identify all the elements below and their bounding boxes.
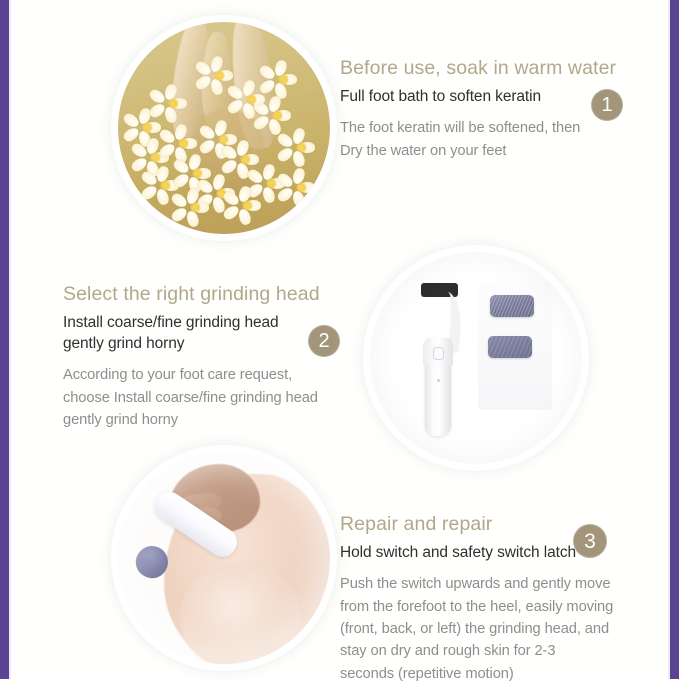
step-3-photo <box>118 452 330 664</box>
left-purple-rail <box>0 0 11 679</box>
step-3-body-line: Push the switch upwards and gently move <box>340 573 635 595</box>
step-2-image-device <box>370 252 582 464</box>
step-2-subheading-line: gently grind horny <box>63 334 328 355</box>
flower-icon <box>178 190 212 224</box>
step-2-body-line: gently grind horny <box>63 409 328 431</box>
step-3-body: Push the switch upwards and gently move … <box>340 573 635 685</box>
step-1-photo <box>118 22 330 234</box>
step-3-body-line: stay on dry and rough skin for 2-3 <box>340 640 635 662</box>
step-3-body-line: seconds (repetitive motion) <box>340 663 635 685</box>
instruction-page: Before use, soak in warm water Full foot… <box>13 0 666 679</box>
step-3-image-heel-treatment <box>118 452 330 664</box>
step-2-body-line: choose Install coarse/fine grinding head <box>63 387 328 409</box>
flower-icon <box>284 170 318 204</box>
step-2-text-block: Select the right grinding head Install c… <box>63 282 328 431</box>
step-1-body-line: Dry the water on your feet <box>340 140 620 162</box>
step-3-number-badge: 3 <box>573 524 607 558</box>
step-2-number-badge: 2 <box>308 325 340 357</box>
flower-icon <box>230 188 264 222</box>
step-1-subheading: Full foot bath to soften keratin <box>340 87 620 108</box>
photo-vignette <box>370 252 582 464</box>
step-3-body-line: (front, back, or left) the grinding head… <box>340 618 635 640</box>
step-2-subheading: Install coarse/fine grinding head gently… <box>63 313 328 355</box>
step-1-body-line: The foot keratin will be softened, then <box>340 117 620 139</box>
flower-icon <box>284 130 318 164</box>
step-1-heading: Before use, soak in warm water <box>340 56 620 80</box>
step-2-body: According to your foot care request, cho… <box>63 364 328 431</box>
step-1-number-badge: 1 <box>591 89 623 121</box>
step-1-body: The foot keratin will be softened, then … <box>340 117 620 162</box>
right-purple-rail <box>668 0 679 679</box>
step-2-photo <box>370 252 582 464</box>
step-1-image-feet-soaking <box>118 22 330 234</box>
flower-icon <box>266 62 300 96</box>
step-3-body-line: from the forefoot to the heel, easily mo… <box>340 596 635 618</box>
step-1-text-block: Before use, soak in warm water Full foot… <box>340 56 620 162</box>
step-2-heading: Select the right grinding head <box>63 282 328 306</box>
step-2-subheading-line: Install coarse/fine grinding head <box>63 313 328 334</box>
flower-icon <box>156 86 190 120</box>
flower-icon <box>234 82 268 116</box>
photo-vignette <box>118 452 330 664</box>
step-2-body-line: According to your foot care request, <box>63 364 328 386</box>
